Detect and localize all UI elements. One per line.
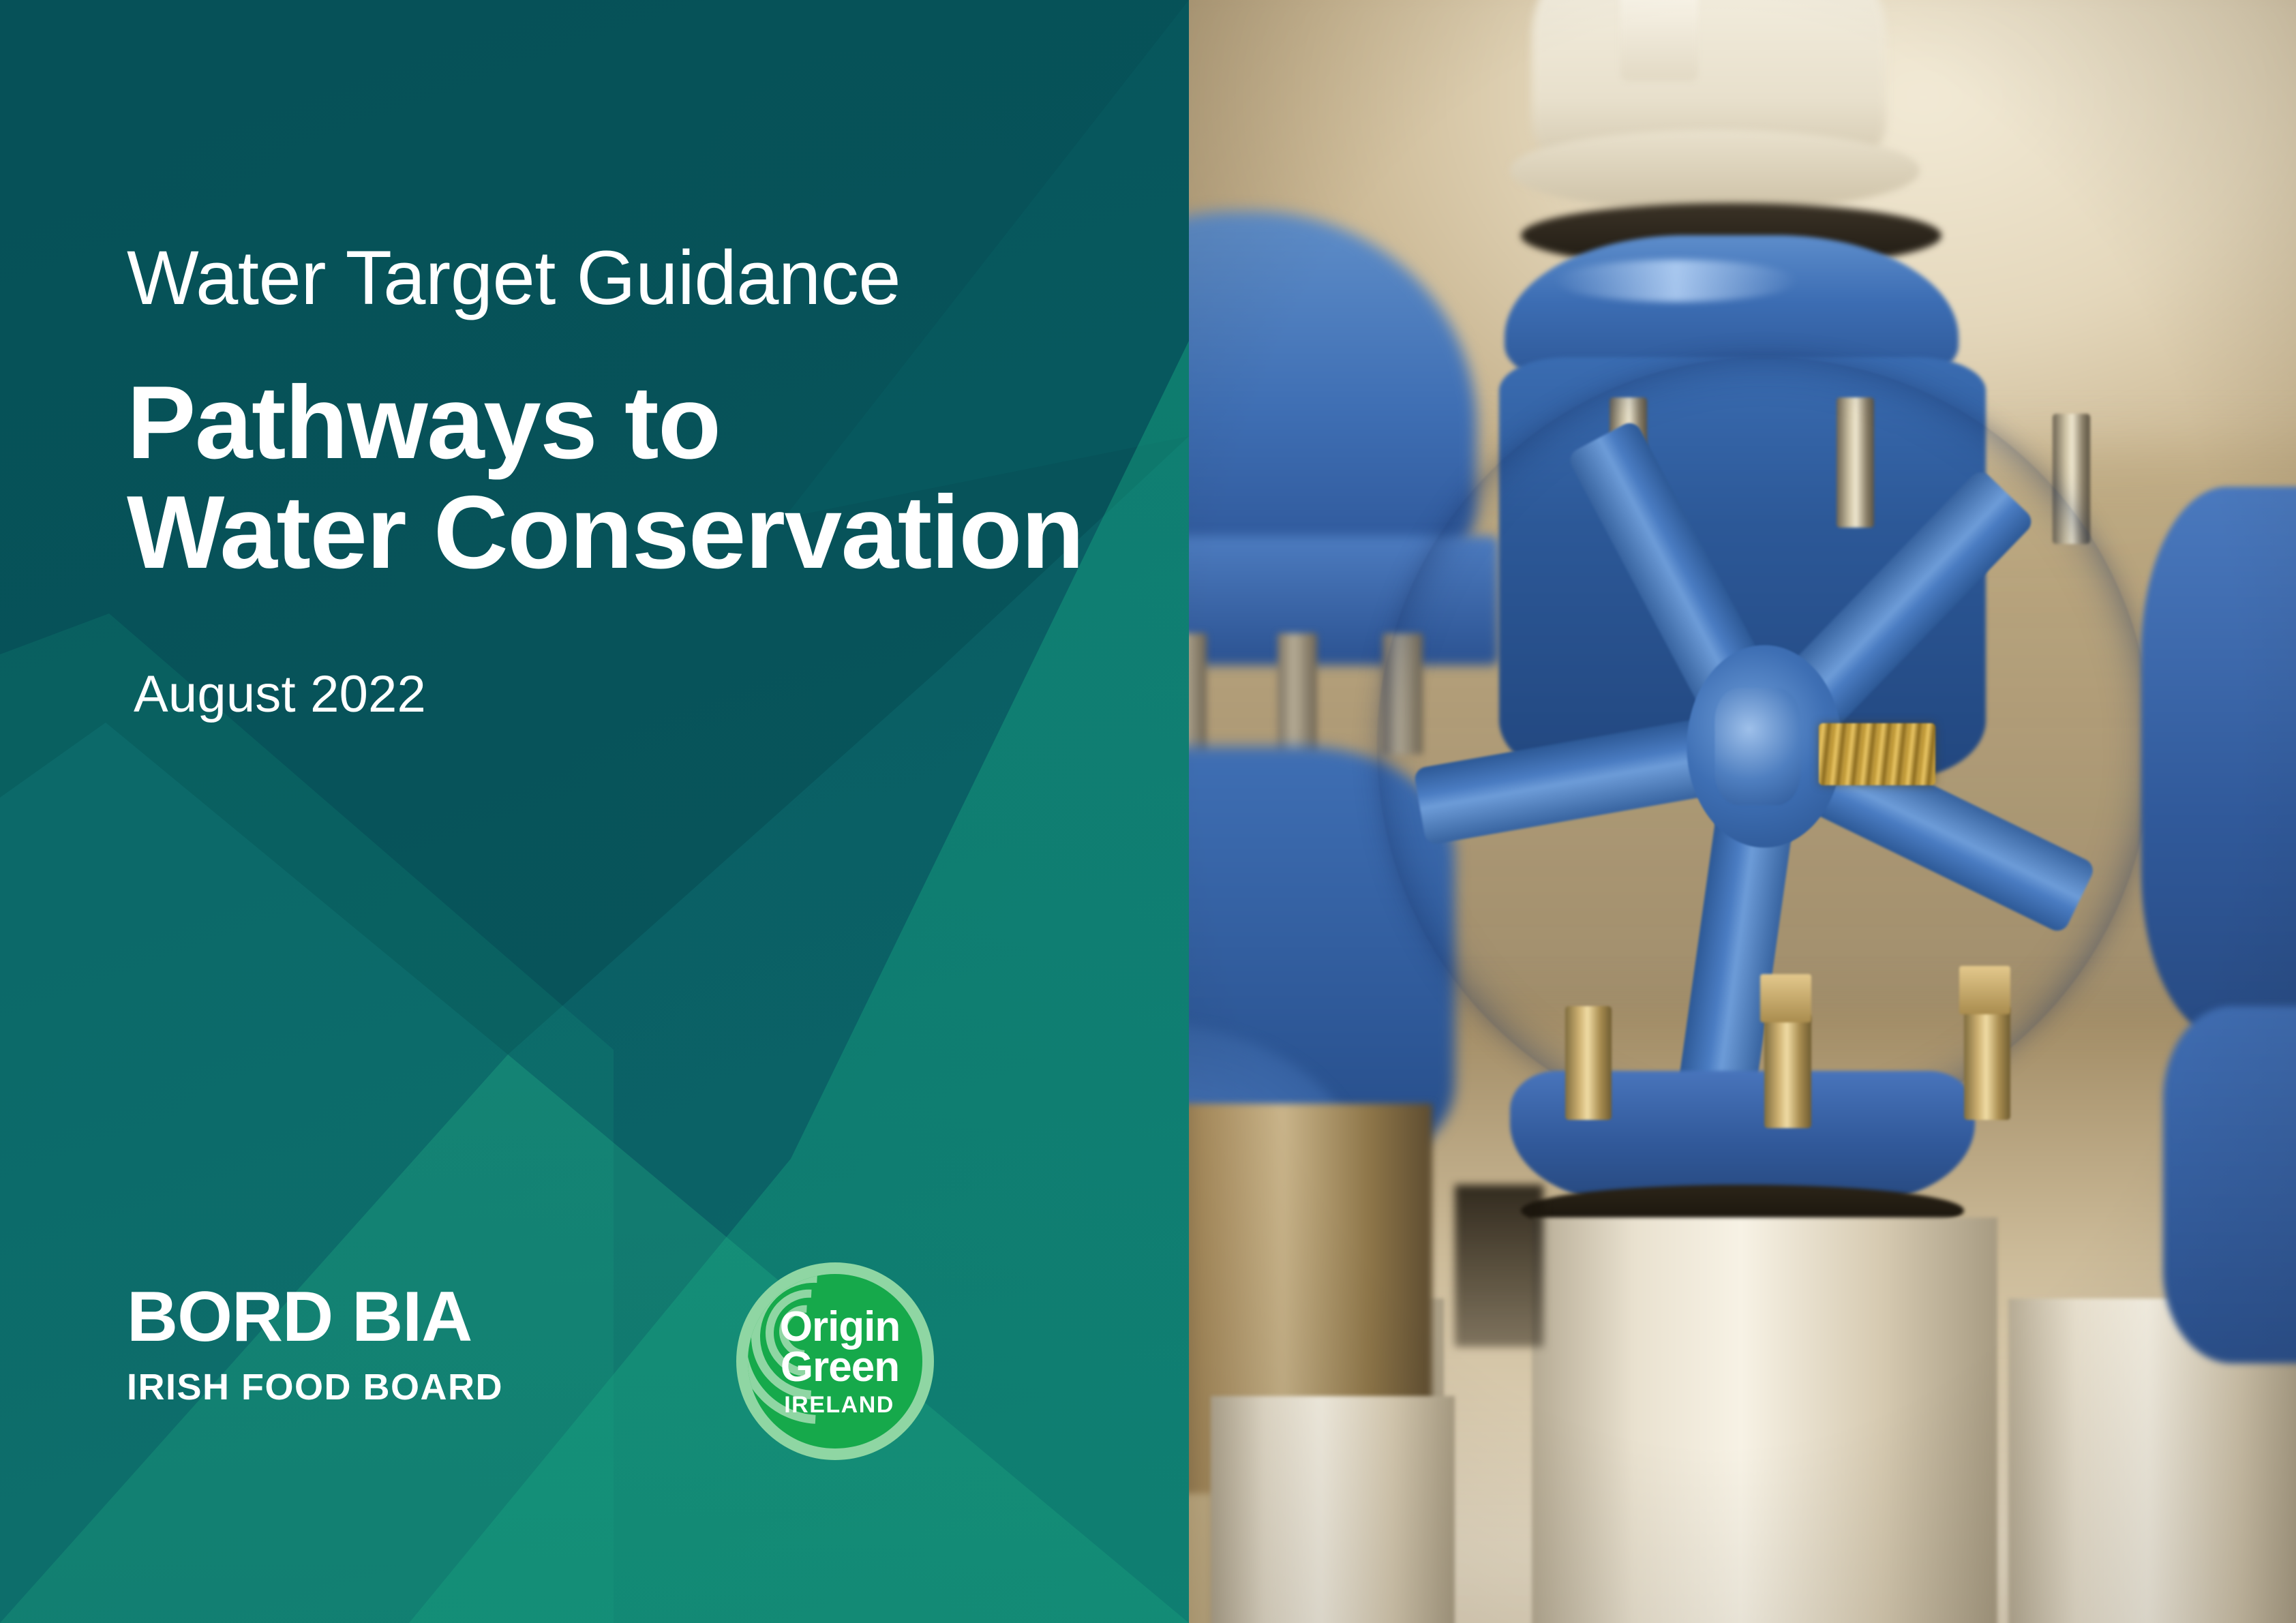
publication-date: August 2022 <box>134 665 426 724</box>
origin-green-line-3: IRELAND <box>784 1394 894 1416</box>
origin-green-logo: Origin Green IRELAND <box>736 1262 934 1460</box>
origin-green-wordmark: Origin Green IRELAND <box>736 1262 934 1460</box>
bord-bia-logo: BORD BIA IRISH FOOD BOARD <box>127 1281 503 1406</box>
cover-page: Water Target Guidance Pathways to Water … <box>0 0 2296 1623</box>
eyebrow-text: Water Target Guidance <box>127 240 901 316</box>
page-title: Pathways to Water Conservation <box>127 368 1083 588</box>
bord-bia-tagline: IRISH FOOD BOARD <box>127 1369 503 1406</box>
cover-photo-valves <box>1189 0 2296 1623</box>
photo-vignette <box>1189 0 2296 1623</box>
origin-green-line-1: Origin <box>780 1307 901 1348</box>
bord-bia-wordmark: BORD BIA <box>127 1281 503 1352</box>
origin-green-line-2: Green <box>781 1347 899 1388</box>
cover-left-panel: Water Target Guidance Pathways to Water … <box>0 0 1189 1623</box>
